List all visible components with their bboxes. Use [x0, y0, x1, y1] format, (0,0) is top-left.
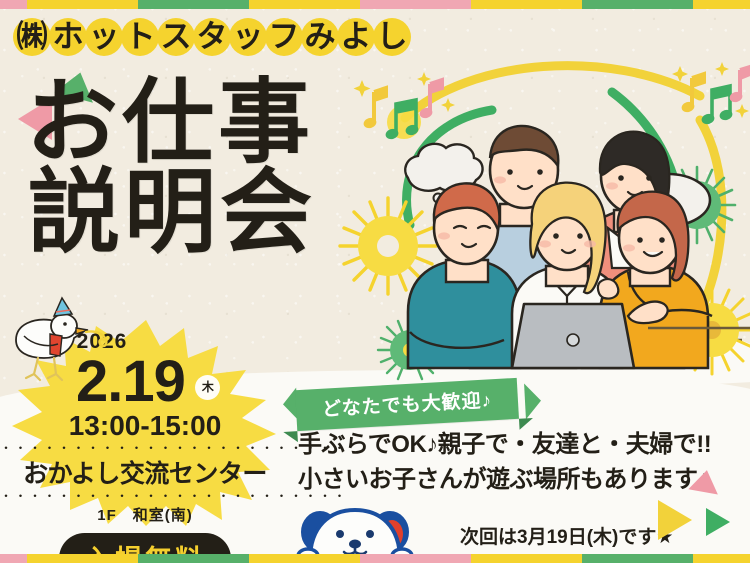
- stripe-segment-4: [360, 554, 471, 563]
- stripe-segment-3: [249, 0, 360, 9]
- next-session-note: 次回は3月19日(木)です★: [460, 522, 673, 549]
- stripe-segment-5: [471, 554, 582, 563]
- dotted-divider-bottom: ・・・・・・・・・・・・・・・・・・・・・・・・: [0, 492, 290, 500]
- stripe-segment-2: [138, 554, 249, 563]
- title-line-2: 説明会: [28, 168, 316, 258]
- stripe-segment-3: [249, 554, 360, 563]
- company-char-10: し: [374, 18, 410, 54]
- stripe-segment-1: [27, 0, 138, 9]
- company-name: ㈱ ホ ッ ト ス タ ッ フ み よ し: [14, 18, 410, 54]
- company-char-7: フ: [266, 18, 302, 54]
- stripe-segment-2: [138, 0, 249, 9]
- stripe-segment-6: [582, 554, 693, 563]
- dotted-divider-top: ・・・・・・・・・・・・・・・・・・・・・・・・: [0, 444, 290, 452]
- party-goose-illustration: [2, 296, 112, 382]
- company-char-2: ッ: [86, 18, 122, 54]
- event-room: 1F 和室(南): [0, 504, 290, 525]
- stripe-segment-5: [471, 0, 582, 9]
- company-char-0: ㈱: [14, 18, 50, 54]
- company-char-3: ト: [122, 18, 158, 54]
- company-char-5: タ: [194, 18, 230, 54]
- top-stripe-bar: [0, 0, 750, 9]
- yellow-triangle-bottomright: [658, 500, 692, 540]
- music-note-green-left: [384, 100, 419, 141]
- music-note-pink-left: [418, 80, 442, 120]
- music-note-green-right: [700, 86, 733, 126]
- company-char-1: ホ: [50, 18, 86, 54]
- stripe-segment-6: [582, 0, 693, 9]
- ribbon-tail-right: [524, 383, 542, 420]
- company-char-6: ッ: [230, 18, 266, 54]
- stripe-segment-7: [693, 554, 750, 563]
- event-time: 13:00-15:00: [0, 410, 290, 442]
- copy-line-1: 手ぶらでOK♪親子で・友達と・夫婦で!!: [298, 428, 711, 463]
- ribbon-fold-left: [283, 431, 298, 443]
- stripe-segment-0: [0, 554, 27, 563]
- title-line-1: お仕事: [26, 78, 316, 168]
- green-triangle-bottomright: [706, 508, 730, 536]
- company-char-8: み: [302, 18, 338, 54]
- stripe-segment-1: [27, 554, 138, 563]
- company-char-4: ス: [158, 18, 194, 54]
- page-title: お仕事 説明会: [26, 78, 316, 258]
- event-venue: おかよし交流センター: [0, 454, 290, 490]
- bottom-stripe-bar: [0, 554, 750, 563]
- stripe-segment-7: [693, 0, 750, 9]
- stripe-segment-4: [360, 0, 471, 9]
- dog-mascot-icon: [296, 498, 414, 560]
- music-note-yellow-left: [362, 88, 386, 130]
- poster-canvas: ㈱ ホ ッ ト ス タ ッ フ み よ し お仕事 説明会 2026 2.19 …: [0, 0, 750, 563]
- stripe-segment-0: [0, 0, 27, 9]
- music-note-yellow-right: [680, 74, 704, 114]
- event-day-of-week-badge: 木: [195, 375, 220, 400]
- copy-line-2: 小さいお子さんが遊ぶ場所もあります♪: [298, 463, 711, 498]
- company-char-9: よ: [338, 18, 374, 54]
- body-copy: 手ぶらでOK♪親子で・友達と・夫婦で!! 小さいお子さんが遊ぶ場所もあります♪: [298, 428, 711, 498]
